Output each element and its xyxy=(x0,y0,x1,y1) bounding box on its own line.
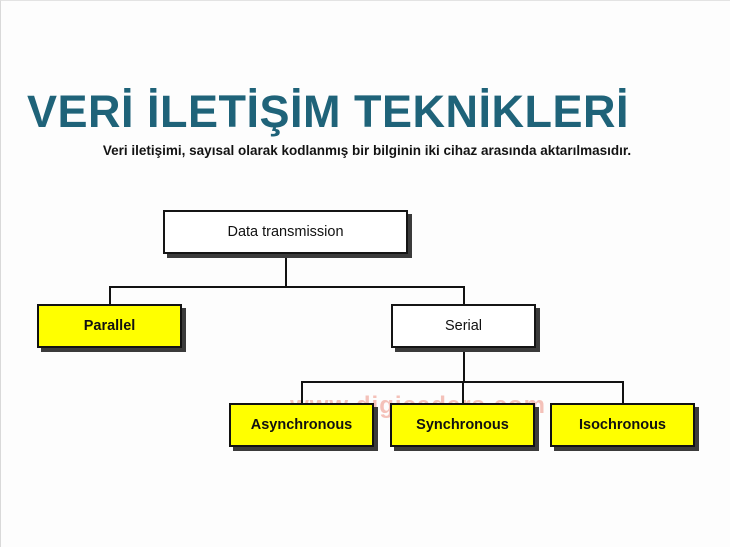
node-label-asynchronous: Asynchronous xyxy=(251,418,353,433)
node-label-serial: Serial xyxy=(445,319,482,334)
data-transmission-tree-diagram: www.digicaders.com Data transmission Par… xyxy=(1,1,730,547)
node-label-parallel: Parallel xyxy=(84,319,136,334)
connector-to-synchronous xyxy=(462,381,464,403)
connector-to-serial xyxy=(463,286,465,304)
connector-serial-down xyxy=(463,348,465,382)
node-parallel[interactable]: Parallel xyxy=(37,304,182,348)
connector-level1-bus xyxy=(109,286,465,288)
connector-to-parallel xyxy=(109,286,111,304)
node-serial[interactable]: Serial xyxy=(391,304,536,348)
node-label-isochronous: Isochronous xyxy=(579,418,666,433)
connector-root-down xyxy=(285,254,287,287)
node-label-data-transmission: Data transmission xyxy=(227,225,343,240)
node-asynchronous[interactable]: Asynchronous xyxy=(229,403,374,447)
connector-to-asynchronous xyxy=(301,381,303,403)
node-data-transmission[interactable]: Data transmission xyxy=(163,210,408,254)
slide-canvas: VERİ İLETİŞİM TEKNİKLERİ Veri iletişimi,… xyxy=(0,0,730,547)
node-synchronous[interactable]: Synchronous xyxy=(390,403,535,447)
node-isochronous[interactable]: Isochronous xyxy=(550,403,695,447)
node-label-synchronous: Synchronous xyxy=(416,418,509,433)
connector-to-isochronous xyxy=(622,381,624,403)
